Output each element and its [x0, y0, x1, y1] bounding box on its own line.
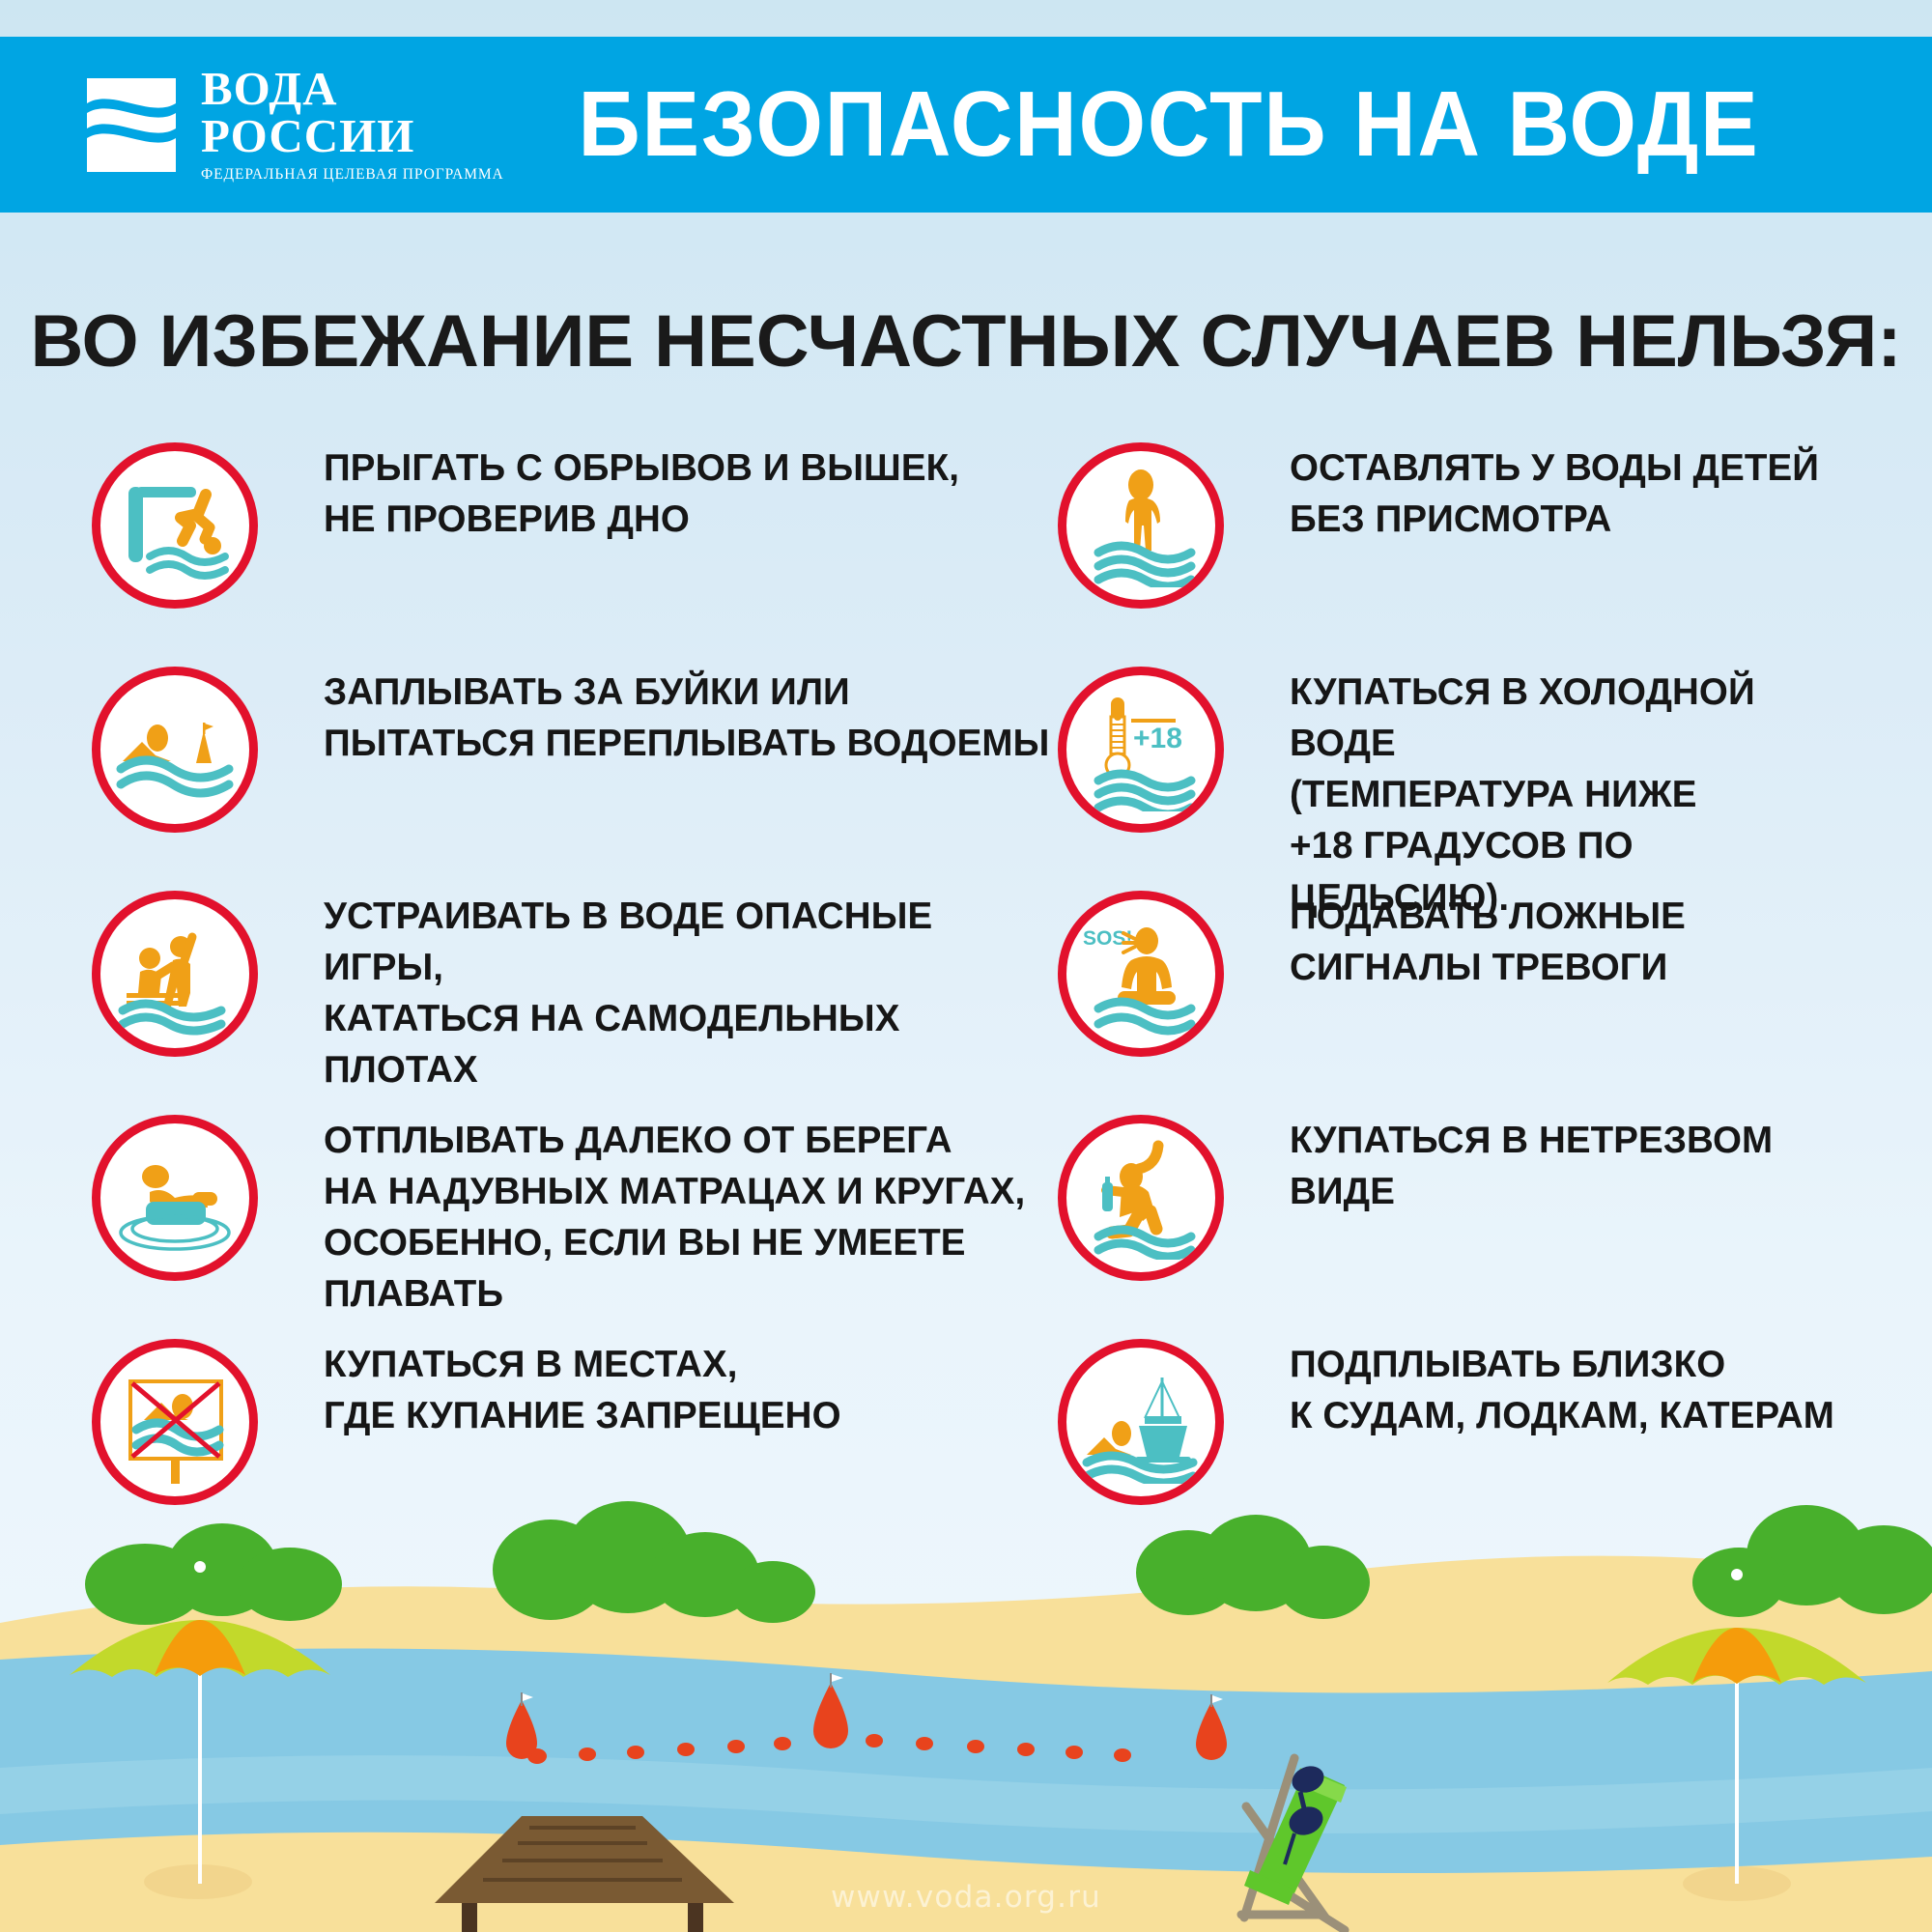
rule-text: КУПАТЬСЯ В ХОЛОДНОЙ ВОДЕ (ТЕМПЕРАТУРА НИ…: [1224, 667, 1840, 923]
rule-text: ОСТАВЛЯТЬ У ВОДЫ ДЕТЕЙ БЕЗ ПРИСМОТРА: [1224, 442, 1819, 545]
inflatable-mattress-icon: [113, 1136, 237, 1260]
brand-line-2: РОССИИ: [201, 113, 504, 159]
header-bar: ВОДА РОССИИ ФЕДЕРАЛЬНАЯ ЦЕЛЕВАЯ ПРОГРАММ…: [0, 37, 1932, 213]
brand-wordmark: ВОДА РОССИИ ФЕДЕРАЛЬНАЯ ЦЕЛЕВАЯ ПРОГРАММ…: [201, 66, 504, 183]
umbrella-tip: [1731, 1569, 1743, 1580]
dangerous-games-raft-icon: [113, 912, 237, 1036]
badge-circle: [92, 1115, 258, 1281]
rule-item-drunk-swimming: КУПАТЬСЯ В НЕТРЕЗВОМ ВИДЕ: [874, 1115, 1840, 1281]
sos-label: SOS!: [1083, 927, 1132, 950]
badge-circle: [1058, 1115, 1224, 1281]
rules-grid: ПРЫГАТЬ С ОБРЫВОВ И ВЫШЕК, НЕ ПРОВЕРИВ Д…: [0, 442, 1932, 1495]
rule-text: КУПАТЬСЯ В НЕТРЕЗВОМ ВИДЕ: [1224, 1115, 1840, 1217]
section-heading: ВО ИЗБЕЖАНИЕ НЕСЧАСТНЫХ СЛУЧАЕВ НЕЛЬЗЯ:: [0, 299, 1932, 384]
umbrella-pole: [1735, 1669, 1739, 1884]
false-alarm-sos-icon: SOS!: [1079, 912, 1203, 1036]
umbrella-pole: [198, 1662, 202, 1884]
child-unattended-icon: [1079, 464, 1203, 587]
diving-from-platform-icon: [113, 464, 237, 587]
thermometer-value-label: +18: [1133, 723, 1182, 754]
drunk-swimming-icon: [1079, 1136, 1203, 1260]
beach-illustration: [0, 1478, 1932, 1932]
rule-text: ПОДАВАТЬ ЛОЖНЫЕ СИГНАЛЫ ТРЕВОГИ: [1224, 891, 1686, 993]
rule-item-unattended-children: ОСТАВЛЯТЬ У ВОДЫ ДЕТЕЙ БЕЗ ПРИСМОТРА: [874, 442, 1840, 609]
page-title: БЕЗОПАСНОСТЬ НА ВОДЕ: [504, 71, 1833, 178]
rule-text: ПРЫГАТЬ С ОБРЫВОВ И ВЫШЕК, НЕ ПРОВЕРИВ Д…: [258, 442, 959, 545]
umbrella-tip: [194, 1561, 206, 1573]
beach-scene: www.voda.org.ru: [0, 1478, 1932, 1932]
swim-near-boat-icon: [1079, 1360, 1203, 1484]
badge-circle: [92, 891, 258, 1057]
badge-circle: [92, 442, 258, 609]
thermometer-cold-water-icon: +18: [1079, 688, 1203, 811]
no-swimming-sign-icon: [113, 1360, 237, 1484]
swimming-past-buoy-icon: [113, 688, 237, 811]
badge-circle: +18: [1058, 667, 1224, 833]
badge-circle: [1058, 442, 1224, 609]
poster-root: ВОДА РОССИИ ФЕДЕРАЛЬНАЯ ЦЕЛЕВАЯ ПРОГРАММ…: [0, 0, 1932, 1932]
site-url[interactable]: www.voda.org.ru: [0, 1880, 1932, 1915]
rule-item-cold-water: +18 КУПАТЬСЯ В ХОЛОДНОЙ ВОДЕ (ТЕМПЕРАТУР…: [874, 667, 1840, 923]
brand-logo: ВОДА РОССИИ ФЕДЕРАЛЬНАЯ ЦЕЛЕВАЯ ПРОГРАММ…: [83, 66, 489, 183]
water-waves-logo-icon: [83, 74, 180, 176]
badge-circle: SOS!: [1058, 891, 1224, 1057]
rule-text: ПОДПЛЫВАТЬ БЛИЗКО К СУДАМ, ЛОДКАМ, КАТЕР…: [1224, 1339, 1834, 1441]
brand-line-1: ВОДА: [201, 66, 504, 112]
rule-text: КУПАТЬСЯ В МЕСТАХ, ГДЕ КУПАНИЕ ЗАПРЕЩЕНО: [258, 1339, 841, 1441]
badge-circle: [92, 667, 258, 833]
rule-item-false-alarm: SOS! ПОДАВАТЬ ЛОЖНЫЕ СИГНАЛЫ ТРЕВОГИ: [874, 891, 1840, 1057]
brand-subtitle: ФЕДЕРАЛЬНАЯ ЦЕЛЕВАЯ ПРОГРАММА: [201, 166, 504, 184]
